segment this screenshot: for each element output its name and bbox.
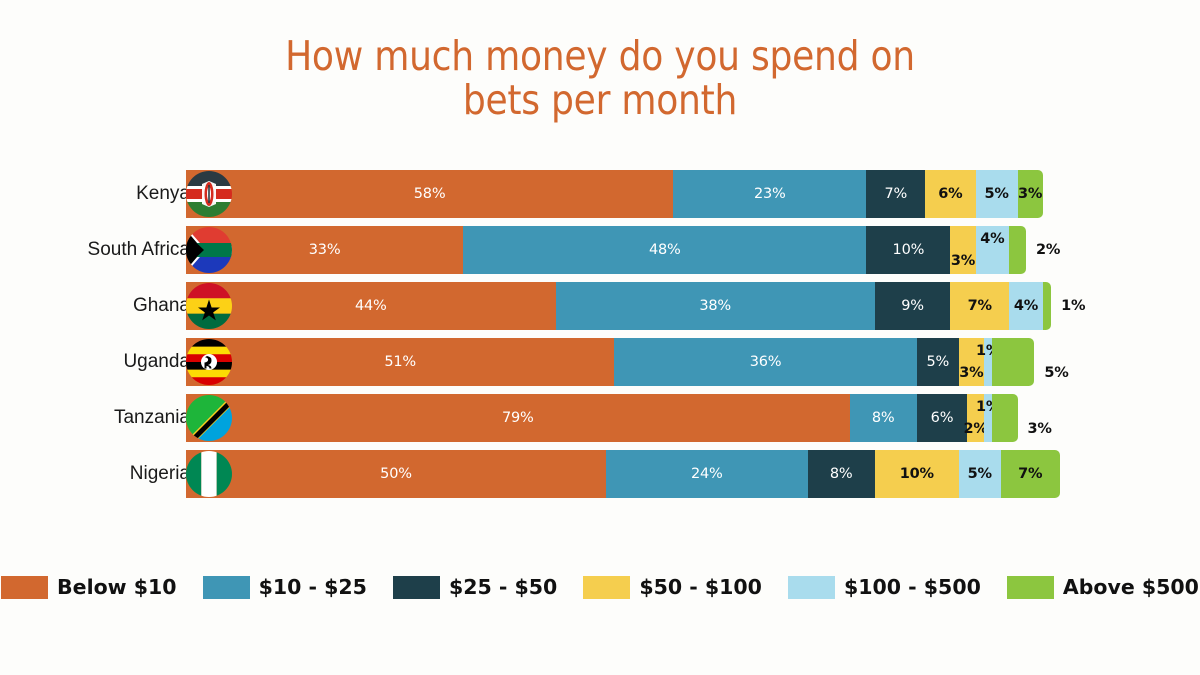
segment-value-label: 5% bbox=[1044, 365, 1068, 381]
bar-segment: 1% bbox=[984, 394, 992, 442]
row-label-nigeria: Nigeria bbox=[0, 450, 190, 498]
segment-value-label: 7% bbox=[1018, 466, 1042, 482]
chart-row-nigeria: Nigeria50%24%8%10%5%7% bbox=[0, 450, 1200, 498]
bar-segment: 2% bbox=[1009, 226, 1026, 274]
bar-segment: 4% bbox=[1009, 282, 1043, 330]
segment-value-label: 9% bbox=[901, 298, 924, 314]
bar-segment: 5% bbox=[976, 170, 1018, 218]
page-title: How much money do you spend on bets per … bbox=[266, 34, 935, 122]
chart-row-kenya: Kenya58%23%7%6%5%3% bbox=[0, 170, 1200, 218]
segment-value-label: 44% bbox=[355, 298, 387, 314]
stacked-bar: 44%38%9%7%4%1% bbox=[186, 282, 1051, 330]
stacked-bar: 33%48%10%3%4%2% bbox=[186, 226, 1026, 274]
segment-value-label: 4% bbox=[980, 231, 1004, 247]
segment-value-label: 38% bbox=[699, 298, 731, 314]
bar-segment: 1% bbox=[984, 338, 992, 386]
bar-segment: 1% bbox=[1043, 282, 1051, 330]
chart-row-uganda: Uganda51%36%5%3%1%5% bbox=[0, 338, 1200, 386]
segment-value-label: 48% bbox=[649, 242, 681, 258]
segment-value-label: 3% bbox=[1018, 186, 1042, 202]
legend-swatch bbox=[583, 576, 630, 599]
segment-value-label: 4% bbox=[1014, 298, 1038, 314]
segment-value-label: 6% bbox=[931, 410, 954, 426]
segment-value-label: 79% bbox=[502, 410, 534, 426]
bar-segment: 7% bbox=[950, 282, 1009, 330]
segment-value-label: 5% bbox=[926, 354, 949, 370]
bar-segment: 6% bbox=[925, 170, 975, 218]
segment-value-label: 50% bbox=[380, 466, 412, 482]
chart-row-ghana: Ghana44%38%9%7%4%1% bbox=[0, 282, 1200, 330]
legend-item[interactable]: $25 - $50 bbox=[393, 575, 557, 599]
segment-value-label: 3% bbox=[959, 365, 983, 381]
legend-item[interactable]: $100 - $500 bbox=[788, 575, 981, 599]
row-label-kenya: Kenya bbox=[0, 170, 190, 218]
flag-uganda-icon bbox=[186, 339, 232, 385]
bar-segment: 9% bbox=[875, 282, 951, 330]
bar-segment: 7% bbox=[1001, 450, 1060, 498]
page-title-line-2: bets per month bbox=[266, 78, 935, 122]
segment-value-label: 36% bbox=[750, 354, 782, 370]
legend-item[interactable]: $10 - $25 bbox=[203, 575, 367, 599]
legend-swatch bbox=[1, 576, 48, 599]
bar-segment: 23% bbox=[673, 170, 866, 218]
legend-item[interactable]: $50 - $100 bbox=[583, 575, 762, 599]
segment-value-label: 10% bbox=[900, 466, 934, 482]
flag-nigeria-icon bbox=[186, 451, 232, 497]
segment-value-label: 58% bbox=[414, 186, 446, 202]
bar-segment: 48% bbox=[463, 226, 866, 274]
flag-tanzania-icon bbox=[186, 395, 232, 441]
segment-value-label: 1% bbox=[1061, 298, 1085, 314]
segment-value-label: 6% bbox=[938, 186, 962, 202]
bar-segment: 4% bbox=[976, 226, 1010, 274]
chart-row-tanzania: Tanzania79%8%6%2%1%3% bbox=[0, 394, 1200, 442]
legend-swatch bbox=[1007, 576, 1054, 599]
legend-label: Above $500 bbox=[1063, 575, 1199, 599]
flag-south-africa-icon bbox=[186, 227, 232, 273]
segment-value-label: 10% bbox=[893, 242, 925, 258]
segment-value-label: 33% bbox=[309, 242, 341, 258]
bar-segment: 3% bbox=[950, 226, 975, 274]
chart-legend: Below $10$10 - $25$25 - $50$50 - $100$10… bbox=[0, 575, 1200, 599]
segment-value-label: 24% bbox=[691, 466, 723, 482]
bar-segment: 3% bbox=[992, 394, 1017, 442]
row-label-uganda: Uganda bbox=[0, 338, 190, 386]
stacked-bar: 51%36%5%3%1%5% bbox=[186, 338, 1034, 386]
segment-value-label: 7% bbox=[968, 298, 992, 314]
legend-label: $10 - $25 bbox=[259, 575, 367, 599]
chart-plot-area: Kenya58%23%7%6%5%3% South Africa33%48%10… bbox=[0, 170, 1200, 520]
legend-label: Below $10 bbox=[57, 575, 177, 599]
legend-swatch bbox=[788, 576, 835, 599]
bar-segment: 44% bbox=[186, 282, 556, 330]
segment-value-label: 51% bbox=[384, 354, 416, 370]
segment-value-label: 2% bbox=[1036, 242, 1060, 258]
legend-swatch bbox=[393, 576, 440, 599]
legend-label: $50 - $100 bbox=[639, 575, 762, 599]
legend-item[interactable]: Above $500 bbox=[1007, 575, 1199, 599]
row-label-tanzania: Tanzania bbox=[0, 394, 190, 442]
row-label-south-africa: South Africa bbox=[0, 226, 190, 274]
bar-segment: 6% bbox=[917, 394, 967, 442]
row-label-ghana: Ghana bbox=[0, 282, 190, 330]
bar-segment: 5% bbox=[992, 338, 1034, 386]
bar-segment: 24% bbox=[606, 450, 808, 498]
stacked-bar: 50%24%8%10%5%7% bbox=[186, 450, 1060, 498]
bar-segment: 36% bbox=[614, 338, 916, 386]
bar-segment: 8% bbox=[808, 450, 875, 498]
segment-value-label: 5% bbox=[968, 466, 992, 482]
bar-segment: 7% bbox=[866, 170, 925, 218]
legend-item[interactable]: Below $10 bbox=[1, 575, 177, 599]
segment-value-label: 8% bbox=[872, 410, 895, 426]
segment-value-label: 7% bbox=[884, 186, 907, 202]
legend-swatch bbox=[203, 576, 250, 599]
segment-value-label: 3% bbox=[1028, 421, 1052, 437]
segment-value-label: 8% bbox=[830, 466, 853, 482]
bar-segment: 3% bbox=[1018, 170, 1043, 218]
bar-segment: 10% bbox=[866, 226, 950, 274]
page-title-line-1: How much money do you spend on bbox=[266, 34, 935, 78]
bar-segment: 38% bbox=[556, 282, 875, 330]
flag-ghana-icon bbox=[186, 283, 232, 329]
chart-row-south-africa: South Africa33%48%10%3%4%2% bbox=[0, 226, 1200, 274]
bar-segment: 5% bbox=[959, 450, 1001, 498]
segment-value-label: 23% bbox=[754, 186, 786, 202]
flag-kenya-icon bbox=[186, 171, 232, 217]
bar-segment: 5% bbox=[917, 338, 959, 386]
bar-segment: 10% bbox=[875, 450, 959, 498]
stacked-bar: 58%23%7%6%5%3% bbox=[186, 170, 1043, 218]
bar-segment: 51% bbox=[186, 338, 614, 386]
bar-segment: 58% bbox=[186, 170, 673, 218]
legend-label: $25 - $50 bbox=[449, 575, 557, 599]
segment-value-label: 3% bbox=[951, 253, 975, 269]
segment-value-label: 5% bbox=[984, 186, 1008, 202]
title-block: How much money do you spend on bets per … bbox=[0, 0, 1200, 122]
stacked-bar: 79%8%6%2%1%3% bbox=[186, 394, 1018, 442]
bar-segment: 79% bbox=[186, 394, 850, 442]
bar-segment: 8% bbox=[850, 394, 917, 442]
bar-segment: 50% bbox=[186, 450, 606, 498]
legend-label: $100 - $500 bbox=[844, 575, 981, 599]
